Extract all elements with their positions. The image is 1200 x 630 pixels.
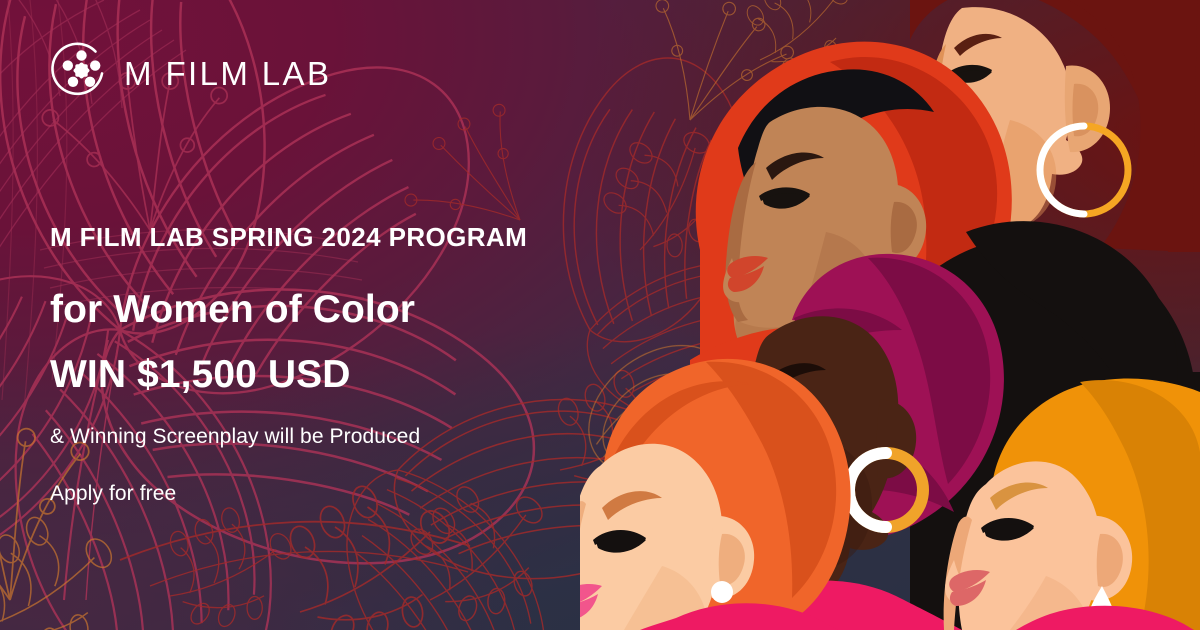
program-kicker: M FILM LAB SPRING 2024 PROGRAM (50, 222, 690, 253)
copy-block: M FILM LAB SPRING 2024 PROGRAM for Women… (50, 222, 690, 506)
apply-cta: Apply for free (50, 481, 690, 506)
program-headline: for Women of Color (50, 289, 690, 332)
stud-earring-white (711, 581, 733, 603)
brand-wordmark: M FILM LAB (124, 57, 331, 90)
brand-logo[interactable]: M FILM LAB (48, 42, 331, 104)
prize-subline: & Winning Screenplay will be Produced (50, 424, 690, 449)
prize-amount: WIN $1,500 USD (50, 354, 690, 397)
film-reel-icon (48, 42, 110, 104)
promo-banner: M FILM LAB M FILM LAB SPRING 2024 PROGRA… (0, 0, 1200, 630)
